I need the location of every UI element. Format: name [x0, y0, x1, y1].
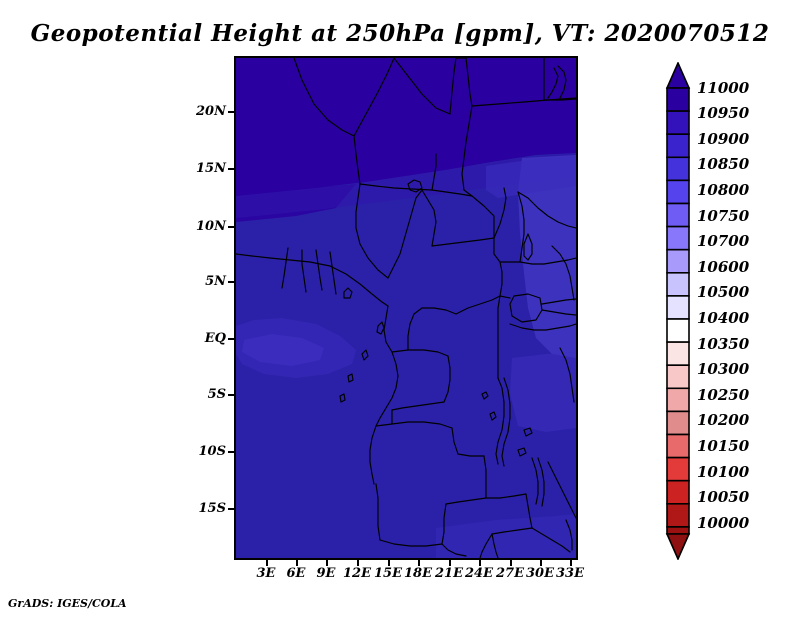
- colorbar-label: 10100: [697, 463, 749, 481]
- y-tick: [228, 281, 234, 283]
- y-tick: [228, 338, 234, 340]
- colorbar-label: 10850: [697, 155, 749, 173]
- x-axis-label: 12E: [343, 566, 371, 581]
- colorbar-label: 10600: [697, 258, 749, 276]
- colorbar-label: 10750: [697, 207, 749, 225]
- colorbar-label: 10800: [697, 181, 749, 199]
- y-tick: [228, 111, 234, 113]
- x-axis-label: 15E: [374, 566, 402, 581]
- y-tick: [228, 451, 234, 453]
- colorbar-label: 10250: [697, 386, 749, 404]
- colorbar-label: 10500: [697, 283, 749, 301]
- x-axis-label: 6E: [287, 566, 306, 581]
- y-axis-label: 10N: [196, 219, 226, 234]
- colorbar-label: 10300: [697, 360, 749, 378]
- colorbar-label: 10900: [697, 130, 749, 148]
- y-tick: [228, 394, 234, 396]
- x-axis-label: 3E: [257, 566, 276, 581]
- colorbar-label: 10350: [697, 335, 749, 353]
- y-axis-label: 5S: [208, 387, 226, 402]
- grads-credit: GrADS: IGES/COLA: [8, 597, 127, 610]
- colorbar-label: 10200: [697, 411, 749, 429]
- colorbar[interactable]: [665, 62, 691, 560]
- colorbar-label: 10050: [697, 488, 749, 506]
- x-axis-label: 33E: [556, 566, 584, 581]
- y-tick: [228, 168, 234, 170]
- x-axis-label: 18E: [404, 566, 432, 581]
- x-axis-label: 21E: [435, 566, 463, 581]
- y-tick: [228, 226, 234, 228]
- colorbar-swatches: [665, 62, 691, 560]
- colorbar-label: 11000: [697, 79, 749, 97]
- colorbar-label: 10700: [697, 232, 749, 250]
- y-axis-label: EQ: [205, 331, 226, 346]
- x-axis-label: 24E: [465, 566, 493, 581]
- x-axis-label: 30E: [526, 566, 554, 581]
- colorbar-label: 10150: [697, 437, 749, 455]
- y-axis-label: 20N: [196, 104, 226, 119]
- x-axis-label: 9E: [317, 566, 336, 581]
- y-axis-label: 15N: [196, 161, 226, 176]
- colorbar-label: 10400: [697, 309, 749, 327]
- map-canvas: [236, 58, 576, 558]
- y-axis-label: 5N: [205, 274, 226, 289]
- colorbar-label: 10000: [697, 514, 749, 532]
- y-axis-label: 10S: [199, 444, 226, 459]
- colorbar-label: 10950: [697, 104, 749, 122]
- map-plot-area[interactable]: [234, 56, 578, 560]
- y-axis-label: 15S: [199, 501, 226, 516]
- x-axis-label: 27E: [496, 566, 524, 581]
- y-tick: [228, 508, 234, 510]
- page-title: Geopotential Height at 250hPa [gpm], VT:…: [0, 20, 800, 47]
